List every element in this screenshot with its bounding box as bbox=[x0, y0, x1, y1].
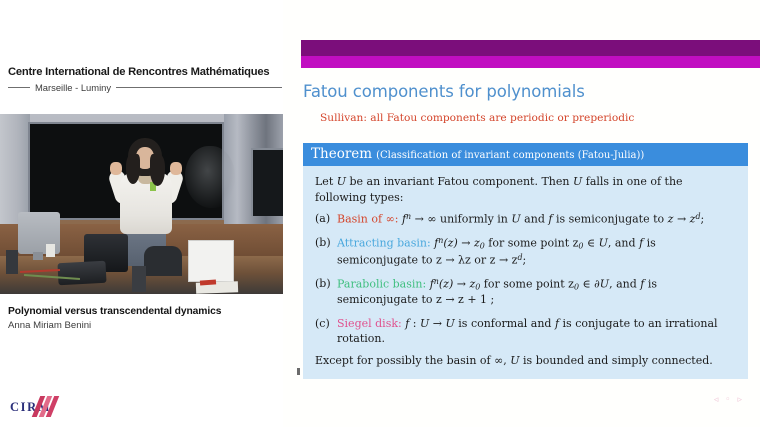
left-info-panel: Centre International de Rencontres Mathé… bbox=[0, 0, 290, 427]
secondary-blackboard bbox=[251, 148, 284, 216]
chair bbox=[144, 246, 182, 276]
intro-text-2: be an invariant Fatou component. Then bbox=[346, 175, 573, 188]
closing-text-2: is bounded and simply connected. bbox=[520, 354, 713, 367]
item-b2-text-1: for some point z bbox=[480, 277, 574, 290]
laptop bbox=[57, 261, 106, 285]
cup bbox=[46, 244, 55, 257]
list-item: (c) Siegel disk: f : U → U is conformal … bbox=[315, 316, 736, 347]
speaker-left-hand bbox=[110, 162, 122, 175]
slide-header-bar-dark bbox=[301, 40, 760, 56]
intro-symbol-u1: U bbox=[337, 175, 346, 188]
intro-symbol-u2: U bbox=[573, 175, 582, 188]
beamer-nav-symbols[interactable]: ◃ ◦ ▹ bbox=[714, 395, 744, 405]
item-c-u2: U bbox=[446, 317, 455, 330]
item-text-a: Basin of ∞: fn → ∞ uniformly in U and f … bbox=[337, 211, 736, 227]
slide-edge-marker bbox=[297, 368, 300, 375]
closing-symbol-u: U bbox=[510, 354, 519, 367]
closing-text-1: Except for possibly the basin of ∞, bbox=[315, 354, 510, 367]
institution-location-row: Marseille - Luminy bbox=[8, 82, 282, 93]
item-b2-map: (z) → z bbox=[439, 277, 475, 290]
talk-title: Polynomial versus transcendental dynamic… bbox=[8, 306, 284, 317]
keyword-parabolic-basin: Parabolic basin: bbox=[337, 277, 426, 290]
list-item: (b) Parabolic basin: fn(z) → z0 for some… bbox=[315, 276, 736, 308]
item-text-b2: Parabolic basin: fn(z) → z0 for some poi… bbox=[337, 276, 736, 308]
item-b1-text-2: ∈ bbox=[583, 236, 598, 249]
cirm-logo: CIRM bbox=[10, 396, 96, 418]
item-b1-text-1: for some point z bbox=[485, 236, 579, 249]
institution-location: Marseille - Luminy bbox=[35, 82, 111, 93]
item-b2-text-3: , and bbox=[609, 277, 640, 290]
presentation-slide: Fatou components for polynomials Sulliva… bbox=[283, 0, 760, 427]
speaker-hair-right bbox=[150, 154, 165, 186]
item-text-b1: Attracting basin: fn(z) → z0 for some po… bbox=[337, 235, 736, 267]
slide-subtitle: Sullivan: all Fatou components are perio… bbox=[320, 112, 634, 124]
item-a-text-2: and bbox=[521, 213, 549, 226]
item-a-f: f bbox=[398, 213, 406, 226]
theorem-header: Theorem (Classification of invariant com… bbox=[303, 143, 748, 166]
monitor-stand bbox=[33, 252, 43, 260]
theorem-parenthetical: (Classification of invariant components … bbox=[376, 150, 644, 161]
list-item: (a) Basin of ∞: fn → ∞ uniformly in U an… bbox=[315, 211, 736, 227]
item-c-u1: U bbox=[420, 317, 429, 330]
theorem-item-list: (a) Basin of ∞: fn → ∞ uniformly in U an… bbox=[315, 211, 736, 347]
item-b2-text-2: ∈ ∂ bbox=[579, 277, 600, 290]
speaker-hair-left bbox=[126, 154, 140, 184]
keyword-basin-of-infinity: Basin of ∞: bbox=[337, 213, 398, 226]
item-label-c: (c) bbox=[315, 316, 337, 332]
theorem-closing: Except for possibly the basin of ∞, U is… bbox=[315, 353, 736, 369]
theorem-word: Theorem bbox=[311, 146, 372, 162]
keyword-attracting-basin: Attracting basin: bbox=[337, 236, 431, 249]
speaker-box-right bbox=[132, 266, 146, 292]
talk-speaker: Anna Miriam Benini bbox=[8, 320, 284, 331]
item-label-a: (a) bbox=[315, 211, 337, 227]
item-label-b1: (b) bbox=[315, 235, 337, 251]
blackboard-smudge bbox=[185, 146, 235, 208]
item-text-c: Siegel disk: f : U → U is conformal and … bbox=[337, 316, 736, 347]
item-b2-f: f bbox=[426, 277, 434, 290]
divider-left bbox=[8, 87, 30, 88]
slide-title: Fatou components for polynomials bbox=[303, 82, 585, 101]
keyword-siegel-disk: Siegel disk: bbox=[337, 317, 402, 330]
list-item: (b) Attracting basin: fn(z) → z0 for som… bbox=[315, 235, 736, 267]
speaker-right-hand bbox=[170, 162, 182, 175]
item-a-text-3: is semiconjugate to bbox=[552, 213, 667, 226]
item-b2-u: U bbox=[600, 277, 609, 290]
item-b1-text-3: , and bbox=[608, 236, 639, 249]
speaker-box-left bbox=[6, 250, 18, 274]
item-a-map: z → z bbox=[668, 213, 696, 226]
item-label-b2: (b) bbox=[315, 276, 337, 292]
theorem-block: Theorem (Classification of invariant com… bbox=[303, 143, 748, 379]
item-c-arrow: → bbox=[429, 317, 445, 330]
lecture-video-frame[interactable] bbox=[0, 114, 284, 294]
item-a-semicolon: ; bbox=[701, 213, 705, 226]
institution-name: Centre International de Rencontres Mathé… bbox=[8, 66, 282, 78]
intro-text-1: Let bbox=[315, 175, 337, 188]
item-b1-semicolon: ; bbox=[523, 253, 527, 266]
theorem-intro: Let U be an invariant Fatou component. T… bbox=[315, 174, 736, 205]
item-c-text-2: is conformal and bbox=[455, 317, 555, 330]
whiteboard-panel bbox=[188, 240, 234, 282]
item-c-text-1: : bbox=[409, 317, 420, 330]
item-a-text-1: → ∞ uniformly in bbox=[411, 213, 511, 226]
item-a-u: U bbox=[511, 213, 520, 226]
theorem-body: Let U be an invariant Fatou component. T… bbox=[303, 166, 748, 379]
talk-caption: Polynomial versus transcendental dynamic… bbox=[8, 306, 284, 331]
institution-header: Centre International de Rencontres Mathé… bbox=[8, 66, 282, 93]
item-b1-map: (z) → z bbox=[443, 236, 479, 249]
item-b1-u: U bbox=[599, 236, 608, 249]
slide-header-bar-light bbox=[301, 56, 760, 68]
divider-right bbox=[116, 87, 282, 88]
